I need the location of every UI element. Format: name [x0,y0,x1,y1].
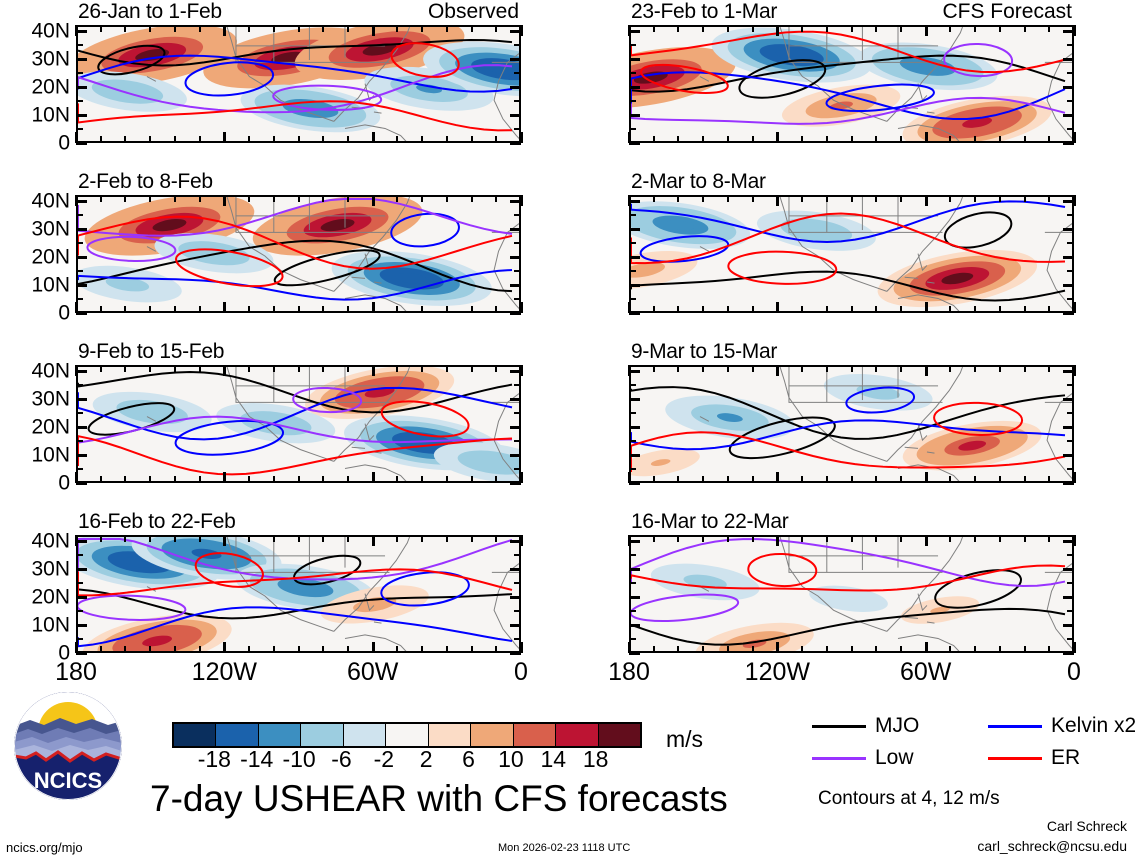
x-tick [801,195,803,202]
y-tick [510,596,521,599]
y-tick [1063,200,1074,203]
x-tick [851,476,853,483]
x-tick [347,476,349,483]
x-tick [372,472,375,483]
x-tick [653,195,655,202]
panel-title: 9-Mar to 15-Mar [631,340,777,364]
x-tick [347,535,349,542]
y-tick [76,44,83,46]
x-tick [199,646,201,653]
y-tick [510,58,521,61]
colorbar-segment [215,724,257,746]
site-url[interactable]: ncics.org/mjo [6,840,83,855]
y-tick [76,610,83,612]
x-tick [446,365,448,372]
x-tick [900,136,902,143]
colorbar-segment [300,724,342,746]
y-tick [629,596,640,599]
panel-title: 9-Feb to 15-Feb [78,340,224,364]
x-tick [248,476,250,483]
x-tick [100,136,102,143]
y-tick [1063,228,1074,231]
y-tick [1063,256,1074,259]
colorbar-tick-label: -6 [331,746,351,773]
x-tick [776,472,779,483]
y-tick [514,554,521,556]
y-tick [76,370,87,373]
x-axis-label: 120W [192,660,257,685]
y-tick [510,624,521,627]
x-tick [471,25,473,32]
y-tick [629,128,636,130]
y-tick [1063,624,1074,627]
y-tick [1063,142,1074,145]
y-tick [510,482,521,485]
y-tick [629,256,640,259]
x-tick [446,136,448,143]
x-tick [949,476,951,483]
colorbar-tick-label: -18 [198,746,231,773]
y-tick [1063,426,1074,429]
y-tick [76,200,87,203]
x-tick [974,195,976,202]
map-field-svg [631,537,1074,653]
x-tick [949,365,951,372]
x-tick [248,646,250,653]
y-tick [1063,398,1074,401]
x-tick [925,472,928,483]
x-tick [752,476,754,483]
x-tick [471,365,473,372]
x-tick [273,365,275,372]
x-tick [702,646,704,653]
y-tick [1063,370,1074,373]
y-tick [76,100,83,102]
x-tick [925,302,928,313]
y-tick [510,370,521,373]
y-axis-label: 30N [31,388,70,409]
map-plot-area [76,25,521,143]
y-axis-label: 40N [31,20,70,41]
x-tick [653,365,655,372]
x-tick [999,476,1001,483]
y-axis-label: 0 [58,473,70,494]
author-email[interactable]: carl_schreck@ncsu.edu [977,838,1127,854]
y-tick [514,582,521,584]
y-tick [514,440,521,442]
x-tick [1024,535,1026,542]
x-tick [826,535,828,542]
x-tick [826,136,828,143]
x-tick [248,535,250,542]
y-tick [514,214,521,216]
y-tick [514,242,521,244]
x-tick [273,535,275,542]
x-tick [949,136,951,143]
x-tick [826,365,828,372]
y-tick [510,30,521,33]
x-tick [999,646,1001,653]
x-tick [372,642,375,653]
y-tick [514,384,521,386]
x-tick [999,136,1001,143]
x-axis-label: 0 [514,660,528,685]
x-tick [471,646,473,653]
y-tick [76,256,87,259]
x-tick [925,25,928,36]
colorbar-tick-label: 6 [462,746,475,773]
y-tick [76,468,83,470]
map-panel-right-3: 16-Mar to 22-Mar180120W60W0 [629,535,1074,653]
x-tick [949,195,951,202]
x-tick [372,195,375,206]
y-tick [1063,568,1074,571]
x-tick [875,195,877,202]
x-tick [1024,306,1026,313]
y-tick [1067,298,1074,300]
y-tick [1063,482,1074,485]
map-plot-area [76,535,521,653]
x-tick [471,306,473,313]
x-tick [174,476,176,483]
y-tick [629,482,640,485]
x-axis-label: 180 [55,660,97,685]
x-tick [471,535,473,542]
x-tick [495,25,497,32]
y-tick [514,468,521,470]
legend-line-swatch [988,725,1042,728]
x-tick [875,646,877,653]
x-tick [925,132,928,143]
x-tick [1024,476,1026,483]
x-tick [653,136,655,143]
y-tick [76,270,83,272]
y-tick [76,398,87,401]
x-tick [199,136,201,143]
x-tick [1048,365,1050,372]
y-tick [76,86,87,89]
panel-title: 26-Jan to 1-Feb [78,0,222,24]
x-tick [851,25,853,32]
y-tick [629,312,640,315]
x-tick [199,306,201,313]
x-tick [174,306,176,313]
x-tick [347,195,349,202]
y-tick [76,298,83,300]
y-tick [629,270,636,272]
y-tick [510,86,521,89]
map-plot-area [629,535,1074,653]
x-tick [446,646,448,653]
x-tick [752,535,754,542]
x-tick [900,365,902,372]
legend-label: ER [1051,746,1080,770]
y-axis-label: 40N [31,190,70,211]
y-tick [510,284,521,287]
x-tick [322,476,324,483]
x-tick [776,642,779,653]
y-tick [629,298,636,300]
x-tick [851,535,853,542]
y-tick [76,114,87,117]
y-tick [629,568,640,571]
x-tick [875,136,877,143]
x-tick [223,132,226,143]
x-tick [925,195,928,206]
x-tick [421,535,423,542]
x-tick [100,365,102,372]
ncics-logo-graphic: NCICS [14,692,122,800]
x-tick [875,476,877,483]
x-tick [1048,646,1050,653]
y-tick [1067,72,1074,74]
colorbar-segment [598,724,640,746]
x-tick [776,195,779,206]
x-tick [677,306,679,313]
y-tick [76,312,87,315]
y-tick [76,384,83,386]
x-tick [949,25,951,32]
colorbar-segment [258,724,300,746]
x-tick [727,306,729,313]
x-tick [1048,535,1050,542]
x-tick [776,535,779,546]
y-tick [76,142,87,145]
x-tick [298,365,300,372]
x-tick [471,195,473,202]
y-tick [514,128,521,130]
y-tick [629,426,640,429]
page-title: 7-day USHEAR with CFS forecasts [150,778,728,820]
x-tick [999,306,1001,313]
x-tick [677,25,679,32]
colorbar-tick-label: -14 [240,746,273,773]
y-axis-label: 20N [31,76,70,97]
x-tick [495,476,497,483]
y-tick [629,384,636,386]
y-tick [629,412,636,414]
y-tick [629,638,636,640]
x-tick [495,365,497,372]
column-header-observed: Observed [428,0,519,24]
y-tick [514,610,521,612]
colorbar-segment [470,724,512,746]
y-tick [1067,582,1074,584]
x-tick [273,306,275,313]
x-tick [727,195,729,202]
y-tick [510,398,521,401]
y-tick [510,312,521,315]
x-tick [149,646,151,653]
y-tick [514,298,521,300]
y-tick [76,568,87,571]
x-tick [149,476,151,483]
y-tick [629,86,640,89]
y-tick [629,114,640,117]
y-tick [76,482,87,485]
x-tick [1024,195,1026,202]
x-tick [677,476,679,483]
x-tick [851,195,853,202]
x-tick [149,535,151,542]
x-tick [199,25,201,32]
legend-label: MJO [875,714,919,738]
x-tick [801,365,803,372]
y-tick [76,412,83,414]
colorbar-segment [174,724,215,746]
y-tick [510,540,521,543]
y-tick [514,72,521,74]
x-tick [124,306,126,313]
y-axis-label: 30N [31,558,70,579]
y-tick [76,440,83,442]
map-field-svg [78,367,521,483]
x-tick [875,365,877,372]
x-tick [298,25,300,32]
y-tick [1067,440,1074,442]
x-tick [925,365,928,376]
x-tick [653,476,655,483]
map-field-svg [631,197,1074,313]
x-tick [124,476,126,483]
map-panel-right-0: 23-Feb to 1-MarCFS Forecast [629,25,1074,143]
y-tick [1063,540,1074,543]
x-tick [199,476,201,483]
x-tick [199,195,201,202]
x-tick [1048,25,1050,32]
x-tick [1048,136,1050,143]
x-tick [900,25,902,32]
x-tick [174,535,176,542]
x-tick [1024,365,1026,372]
x-tick [322,646,324,653]
x-tick [752,136,754,143]
x-tick [273,25,275,32]
x-tick [752,365,754,372]
x-tick [396,365,398,372]
x-tick [851,306,853,313]
y-tick [629,370,640,373]
x-tick [801,25,803,32]
legend-item-er: ER [988,746,1080,770]
x-axis-label: 0 [1067,660,1081,685]
x-tick [702,306,704,313]
x-tick [446,476,448,483]
x-tick [826,476,828,483]
y-axis-label: 10N [31,104,70,125]
x-tick [149,306,151,313]
x-tick [999,365,1001,372]
y-tick [510,256,521,259]
x-tick [273,136,275,143]
x-tick [298,646,300,653]
x-tick [999,535,1001,542]
ncics-logo: NCICS [14,692,122,800]
legend-line-swatch [988,757,1042,760]
colorbar-segment [555,724,597,746]
x-tick [1024,25,1026,32]
panel-title: 2-Feb to 8-Feb [78,170,213,194]
y-tick [510,454,521,457]
x-tick [248,195,250,202]
x-tick [974,306,976,313]
x-tick [677,195,679,202]
x-tick [949,646,951,653]
y-tick [1063,86,1074,89]
x-tick [124,195,126,202]
y-tick [76,652,87,655]
x-tick [727,136,729,143]
x-tick [396,195,398,202]
x-tick [925,535,928,546]
x-tick [273,646,275,653]
x-axis-label: 120W [745,660,810,685]
y-axis-label: 20N [31,586,70,607]
y-tick [1063,30,1074,33]
y-tick [1067,384,1074,386]
y-tick [629,652,640,655]
x-tick [495,306,497,313]
colorbar-unit-label: m/s [666,726,703,753]
x-tick [149,365,151,372]
x-tick [727,25,729,32]
x-tick [124,535,126,542]
x-tick [396,136,398,143]
x-tick [223,195,226,206]
y-tick [510,568,521,571]
y-tick [1067,554,1074,556]
x-tick [421,306,423,313]
y-tick [510,426,521,429]
y-tick [76,454,87,457]
y-tick [1067,242,1074,244]
map-panel-right-2: 9-Mar to 15-Mar [629,365,1074,483]
x-tick [223,642,226,653]
x-tick [421,476,423,483]
colorbar [172,722,642,748]
x-tick [752,195,754,202]
x-tick [900,646,902,653]
x-tick [347,136,349,143]
x-tick [223,535,226,546]
x-tick [322,25,324,32]
map-field-svg [631,27,1074,143]
colorbar-segment [428,724,470,746]
x-tick [223,25,226,36]
map-panel-left-0: 26-Jan to 1-FebObserved40N30N20N10N0 [76,25,521,143]
map-field-svg [78,27,521,143]
x-tick [322,195,324,202]
y-tick [76,228,87,231]
x-tick [100,195,102,202]
x-tick [124,136,126,143]
x-tick [776,132,779,143]
x-tick [396,25,398,32]
x-tick [471,476,473,483]
x-tick [727,646,729,653]
y-tick [510,652,521,655]
y-tick [629,72,636,74]
y-axis-label: 0 [58,303,70,324]
y-tick [629,582,636,584]
y-axis-label: 40N [31,360,70,381]
map-plot-area [76,195,521,313]
x-tick [396,535,398,542]
legend-item-kelvin-x2: Kelvin x2 [988,714,1135,738]
y-tick [514,270,521,272]
y-tick [76,242,83,244]
x-tick [1048,306,1050,313]
